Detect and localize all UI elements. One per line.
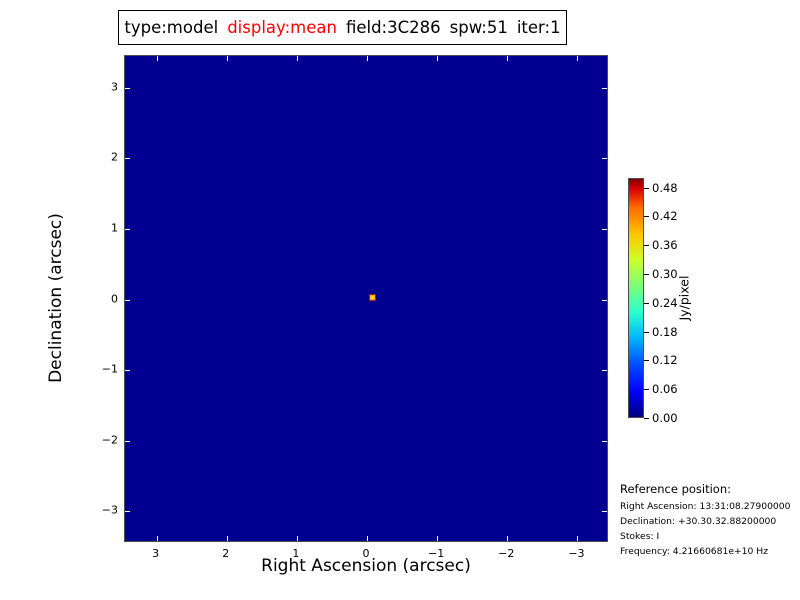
x-axis-tick [577, 536, 578, 541]
y-axis-tick [125, 229, 130, 230]
y-axis-tick-label: 3 [92, 80, 118, 93]
colorbar-tick-label: 0.12 [652, 353, 678, 367]
colorbar-tick-label: 0.24 [652, 296, 678, 310]
x-axis-tick [437, 56, 438, 61]
reference-position-frequency: Frequency: 4.21660681e+10 Hz [620, 546, 800, 557]
x-axis-tick [507, 56, 508, 61]
sky-image-panel[interactable] [124, 55, 608, 542]
colorbar-tick-label: 0.30 [652, 267, 678, 281]
y-axis-tick-label: −2 [92, 433, 118, 446]
colorbar-tick [644, 303, 649, 304]
point-source-marker [370, 295, 375, 300]
colorbar-tick-label: 0.06 [652, 382, 678, 396]
x-axis-tick-label: −1 [428, 547, 444, 560]
colorbar-tick [644, 389, 649, 390]
title-segment-spw: spw:51 [450, 18, 508, 37]
x-axis-tick [367, 536, 368, 541]
y-axis-tick [125, 300, 130, 301]
colorbar-tick [644, 332, 649, 333]
x-axis-tick-label: 2 [222, 547, 229, 560]
colorbar-tick-label: 0.42 [652, 209, 678, 223]
colorbar[interactable] [628, 178, 644, 418]
title-segment-iter: iter:1 [517, 18, 561, 37]
x-axis-tick [507, 536, 508, 541]
y-axis-tick [125, 158, 130, 159]
x-axis-tick [227, 56, 228, 61]
plot-title-box: type:model display:mean field:3C286 spw:… [118, 10, 567, 45]
reference-position-heading: Reference position: [620, 482, 800, 496]
y-axis-tick-label: −1 [92, 363, 118, 376]
title-segment-type: type:model [124, 18, 218, 37]
title-segment-field: field:3C286 [346, 18, 441, 37]
x-axis-tick-label: −3 [568, 547, 584, 560]
y-axis-tick [602, 229, 607, 230]
colorbar-tick [644, 245, 649, 246]
colorbar-tick-label: 0.36 [652, 238, 678, 252]
y-axis-tick [602, 511, 607, 512]
reference-position-right-ascension: Right Ascension: 13:31:08.27900000 [620, 501, 800, 512]
x-axis-tick-label: 0 [363, 547, 370, 560]
colorbar-label: Jy/pixel [677, 276, 692, 321]
x-axis-tick [297, 536, 298, 541]
reference-position-block: Reference position: Right Ascension: 13:… [620, 482, 800, 561]
x-axis-tick-label: 3 [152, 547, 159, 560]
x-axis-tick-label: 1 [292, 547, 299, 560]
y-axis-tick [602, 158, 607, 159]
colorbar-tick-label: 0.48 [652, 181, 678, 195]
x-axis-tick [577, 56, 578, 61]
y-axis-tick [602, 88, 607, 89]
colorbar-tick-label: 0.00 [652, 411, 678, 425]
y-axis-tick-label: 0 [92, 292, 118, 305]
y-axis-label: Declination (arcsec) [46, 213, 66, 383]
x-axis-tick [297, 56, 298, 61]
point-source-core [371, 296, 374, 299]
y-axis-tick [125, 370, 130, 371]
colorbar-tick [644, 274, 649, 275]
colorbar-tick [644, 360, 649, 361]
y-axis-tick [602, 441, 607, 442]
colorbar-tick [644, 418, 649, 419]
y-axis-tick [125, 511, 130, 512]
reference-position-stokes: Stokes: I [620, 531, 800, 542]
y-axis-tick [125, 88, 130, 89]
x-axis-tick [367, 56, 368, 61]
x-axis-tick-label: −2 [498, 547, 514, 560]
x-axis-tick [157, 536, 158, 541]
y-axis-tick-label: 1 [92, 221, 118, 234]
y-axis-tick [125, 441, 130, 442]
y-axis-tick-label: 2 [92, 151, 118, 164]
colorbar-tick [644, 216, 649, 217]
y-axis-tick [602, 300, 607, 301]
y-axis-tick [602, 370, 607, 371]
colorbar-tick-label: 0.18 [652, 325, 678, 339]
x-axis-tick [157, 56, 158, 61]
x-axis-tick [437, 536, 438, 541]
reference-position-declination: Declination: +30.30.32.88200000 [620, 516, 800, 527]
colorbar-tick [644, 188, 649, 189]
title-segment-display: display:mean [227, 18, 337, 37]
y-axis-tick-label: −3 [92, 504, 118, 517]
x-axis-tick [227, 536, 228, 541]
